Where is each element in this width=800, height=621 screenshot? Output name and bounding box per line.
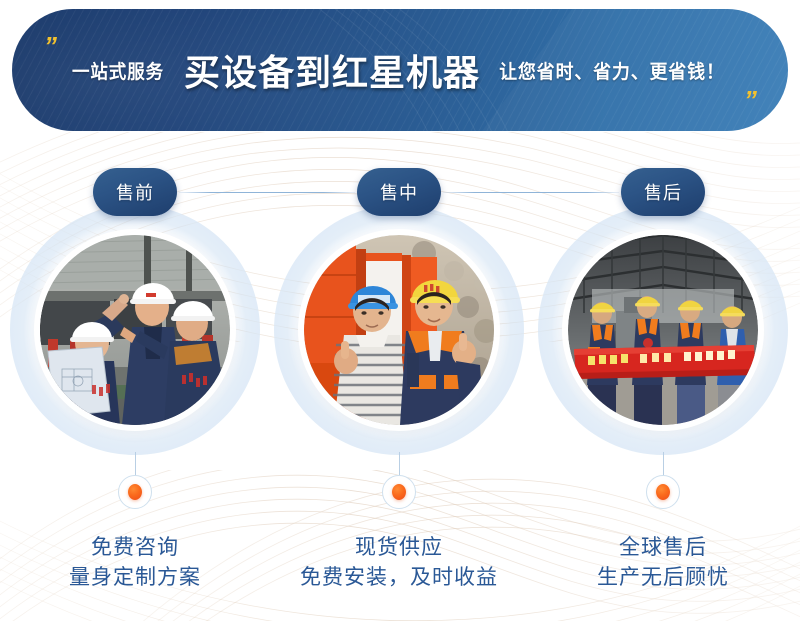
photo-image-after-sale (568, 235, 758, 425)
header-banner: ” ” 一站式服务 买设备到红星机器 让您省时、省力、更省钱！ (12, 9, 788, 131)
dot-marker-2[interactable] (382, 475, 416, 509)
photo-circle-pre-sale[interactable] (40, 235, 230, 425)
banner-text-row: 一站式服务 买设备到红星机器 让您省时、省力、更省钱！ (12, 9, 788, 131)
dot-marker-1[interactable] (118, 475, 152, 509)
step-pill-after-sale[interactable]: 售后 (621, 168, 705, 216)
photo-circle-after-sale[interactable] (568, 235, 758, 425)
dot-core-3 (656, 484, 670, 500)
caption-line1-in-sale: 现货供应 (279, 533, 519, 563)
caption-line2-pre-sale: 量身定制方案 (15, 563, 255, 593)
photo-image-pre-sale (40, 235, 230, 425)
step-connector-2 (443, 192, 619, 193)
steps-row: 售前 售中 售后 (0, 168, 800, 220)
quote-open-icon: ” (44, 33, 56, 59)
dot-marker-3[interactable] (646, 475, 680, 509)
quote-close-icon: ” (744, 87, 756, 113)
caption-line1-after-sale: 全球售后 (543, 533, 783, 563)
caption-after-sale: 全球售后 生产无后顾忧 (543, 533, 783, 593)
step-connector-1 (179, 192, 355, 193)
caption-line1-pre-sale: 免费咨询 (15, 533, 255, 563)
dot-core-2 (392, 484, 406, 500)
step-pill-pre-sale[interactable]: 售前 (93, 168, 177, 216)
step-label-in-sale: 售中 (380, 179, 418, 205)
photo-image-in-sale (304, 235, 494, 425)
caption-line2-in-sale: 免费安装，及时收益 (279, 563, 519, 593)
dot-core-1 (128, 484, 142, 500)
step-label-pre-sale: 售前 (116, 179, 154, 205)
promo-banner-page: ” ” 一站式服务 买设备到红星机器 让您省时、省力、更省钱！ 售前 售中 售后 (0, 0, 800, 621)
photo-circle-in-sale[interactable] (304, 235, 494, 425)
step-pill-in-sale[interactable]: 售中 (357, 168, 441, 216)
step-label-after-sale: 售后 (644, 179, 682, 205)
caption-pre-sale: 免费咨询 量身定制方案 (15, 533, 255, 593)
banner-subtitle-left: 一站式服务 (72, 57, 164, 84)
caption-line2-after-sale: 生产无后顾忧 (543, 563, 783, 593)
banner-subtitle-right: 让您省时、省力、更省钱！ (499, 57, 725, 84)
banner-title: 买设备到红星机器 (184, 44, 480, 96)
caption-in-sale: 现货供应 免费安装，及时收益 (279, 533, 519, 593)
